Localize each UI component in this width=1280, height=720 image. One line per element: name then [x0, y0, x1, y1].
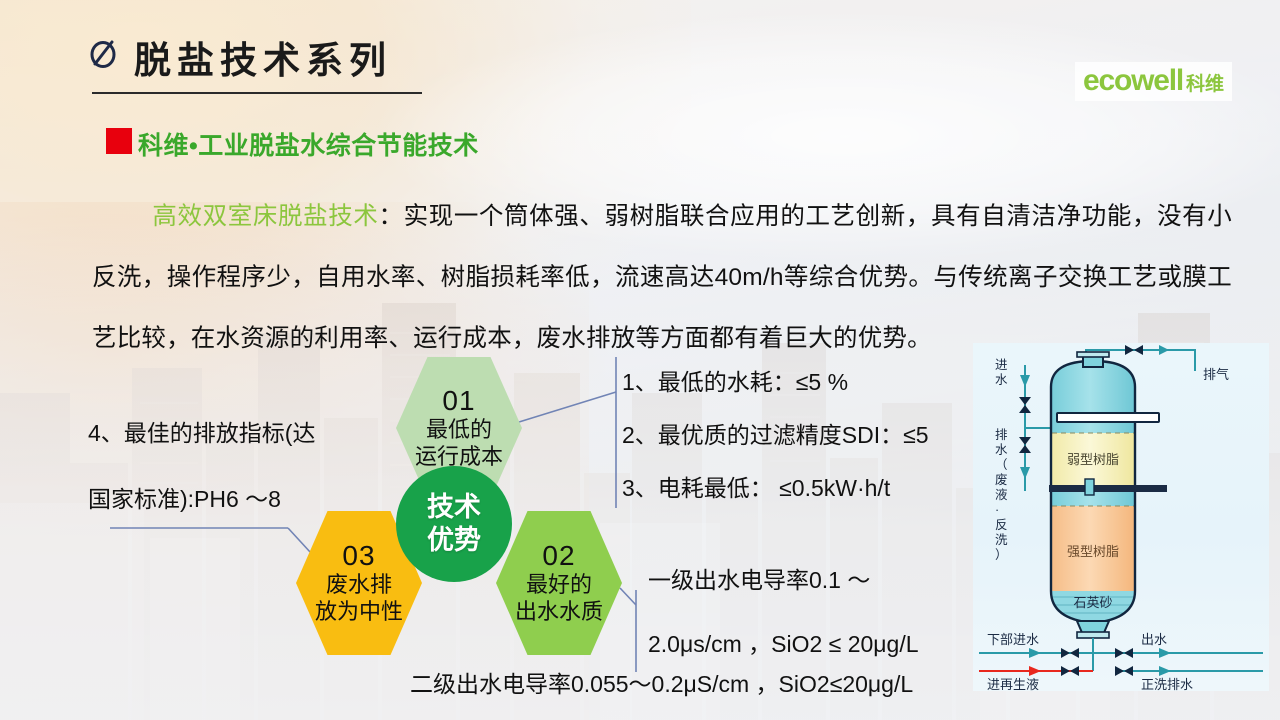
label-inlet-top: 进	[995, 358, 1008, 372]
hexagon-01-number: 01	[442, 386, 475, 416]
primary-water-spec-line2: 2.0μs/cm ，SiO2 ≤ 20μg/L	[648, 612, 988, 676]
hexagon-03-line1: 废水排	[326, 571, 392, 598]
svg-text:水: 水	[995, 443, 1008, 457]
section-subtitle: 科维•工业脱盐水综合节能技术	[138, 126, 479, 162]
vessel-process-diagram: 排气 进 水 排水 （废 液· 反洗 ）	[973, 343, 1269, 691]
logo-chinese-name: 科维	[1186, 75, 1224, 94]
hexagon-03-line2: 放为中性	[315, 598, 403, 625]
svg-text:）: ）	[995, 548, 1008, 562]
paragraph-highlight: 高效双室床脱盐技术	[152, 203, 378, 230]
list-item: 1、最低的水耗：≤5 %	[622, 356, 982, 409]
label-drain-side: 排水 （废 液· 反洗 ）	[995, 428, 1008, 562]
label-vent: 排气	[1203, 367, 1229, 382]
red-square-bullet-icon	[106, 128, 132, 154]
hexagon-01-line1: 最低的	[426, 416, 492, 443]
hexagon-02-line1: 最好的	[526, 571, 592, 598]
label-rinse-drain: 正洗排水	[1141, 677, 1193, 691]
label-quartz-sand: 石英砂	[1073, 595, 1112, 610]
hexagon-02-number: 02	[542, 541, 575, 571]
secondary-water-spec: 二级出水电导率0.055～0.2μS/cm ，SiO2≤20μg/L	[410, 668, 913, 700]
label-outlet: 出水	[1141, 632, 1167, 647]
list-item: 2、最优质的过滤精度SDI：≤5	[622, 409, 982, 462]
label-weak-resin: 弱型树脂	[1067, 452, 1119, 467]
core-line2: 优势	[427, 524, 481, 557]
svg-text:废: 废	[995, 472, 1008, 487]
empty-set-icon	[86, 36, 120, 70]
label-strong-resin: 强型树脂	[1067, 544, 1119, 559]
svg-text:·: ·	[995, 503, 999, 517]
page-title: 脱盐技术系列	[134, 30, 392, 84]
left-annotation: 4、最佳的排放指标(达 国家标准):PH6 ～8	[88, 400, 358, 532]
hexagon-03-number: 03	[342, 541, 375, 571]
primary-water-spec: 一级出水电导率0.1 ～ 2.0μs/cm ，SiO2 ≤ 20μg/L	[648, 548, 988, 676]
svg-text:反: 反	[995, 518, 1008, 532]
svg-text:排: 排	[995, 428, 1008, 442]
right-numbered-list: 1、最低的水耗：≤5 % 2、最优质的过滤精度SDI：≤5 3、电耗最低： ≤0…	[622, 356, 982, 515]
svg-text:水: 水	[995, 373, 1008, 387]
hexagon-02-line2: 出水水质	[515, 598, 603, 625]
left-annotation-line2: 国家标准):PH6 ～8	[88, 466, 358, 532]
logo-wordmark: ecowell	[1083, 66, 1183, 96]
svg-text:洗: 洗	[995, 533, 1008, 547]
left-annotation-line1: 4、最佳的排放指标(达	[88, 400, 358, 466]
list-item: 3、电耗最低： ≤0.5kW·h/t	[622, 462, 982, 515]
label-bottom-inlet: 下部进水	[987, 632, 1039, 647]
intro-paragraph: 高效双室床脱盐技术：实现一个筒体强、弱树脂联合应用的工艺创新，具有自清洁净功能，…	[92, 186, 1232, 369]
primary-water-spec-line1: 一级出水电导率0.1 ～	[648, 548, 988, 612]
hexagon-core-circle: 技术 优势	[396, 466, 512, 582]
core-line1: 技术	[427, 491, 481, 524]
ecowell-logo: ecowell 科维	[1075, 62, 1232, 101]
svg-text:液: 液	[995, 487, 1008, 502]
label-regen-inlet: 进再生液	[987, 677, 1039, 691]
svg-text:（: （	[995, 458, 1008, 472]
title-underline-rule	[92, 92, 422, 94]
